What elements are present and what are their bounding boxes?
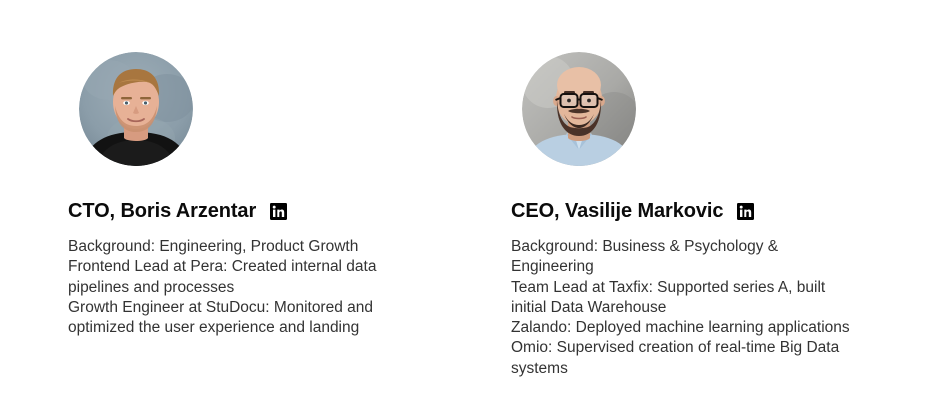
linkedin-icon[interactable] <box>737 203 754 220</box>
bio-line: Team Lead at Taxfix: Supported series A,… <box>511 278 863 319</box>
profile-card-ceo: CEO, Vasilije Markovic Background: Busin… <box>511 52 911 379</box>
profile-name: CTO, Boris Arzentar <box>68 199 256 223</box>
linkedin-icon[interactable] <box>270 203 287 220</box>
profile-heading: CTO, Boris Arzentar <box>68 199 468 223</box>
profile-name: CEO, Vasilije Markovic <box>511 199 723 223</box>
profile-bio: Background: Engineering, Product Growth … <box>68 237 468 338</box>
profile-heading: CEO, Vasilije Markovic <box>511 199 911 223</box>
avatar <box>79 52 193 166</box>
bio-line: Omio: Supervised creation of real-time B… <box>511 338 863 379</box>
boris-arzentar-photo <box>79 52 193 166</box>
bio-line: Background: Business & Psychology & Engi… <box>511 237 863 278</box>
team-profiles-section: CTO, Boris Arzentar Background: Engineer… <box>0 0 948 412</box>
bio-line: Zalando: Deployed machine learning appli… <box>511 318 863 338</box>
profile-bio: Background: Business & Psychology & Engi… <box>511 237 911 379</box>
vasilije-markovic-photo <box>522 52 636 166</box>
bio-line: Background: Engineering, Product Growth <box>68 237 414 257</box>
profile-card-cto: CTO, Boris Arzentar Background: Engineer… <box>68 52 468 338</box>
bio-line: Growth Engineer at StuDocu: Monitored an… <box>68 298 414 339</box>
avatar <box>522 52 636 166</box>
bio-line: Frontend Lead at Pera: Created internal … <box>68 257 414 298</box>
